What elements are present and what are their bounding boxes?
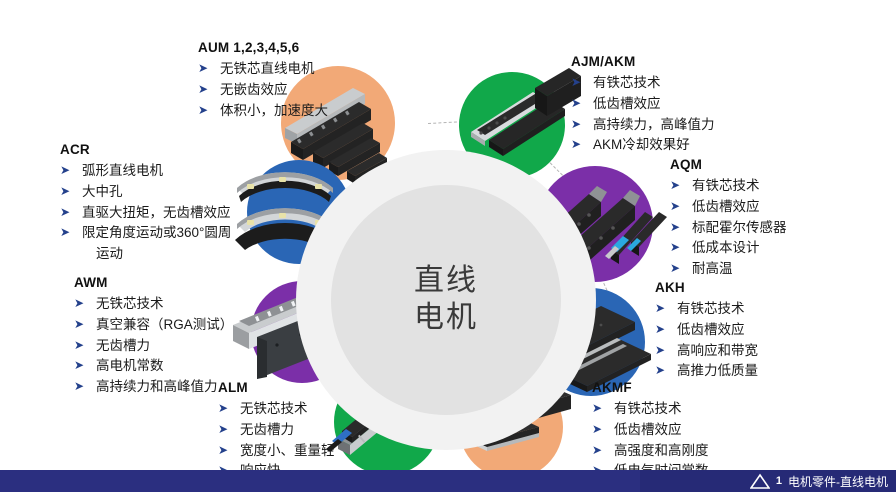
ajm-akm-bullet-list: ➤有铁芯技术 ➤低齿槽效应 ➤高持续力，高峰值力 ➤AKM冷却效果好 — [571, 73, 715, 156]
bullet-text: 低齿槽效应 — [593, 96, 661, 111]
bullet-text: 耐高温 — [692, 261, 733, 276]
acr-bullet-list: ➤弧形直线电机 ➤大中孔 ➤直驱大扭矩，无齿槽效应 ➤限定角度运动或360°圆周… — [60, 161, 231, 265]
chevron-right-bullet-icon: ➤ — [592, 441, 602, 460]
bullet-text: 有铁芯技术 — [614, 401, 682, 416]
chevron-right-bullet-icon: ➤ — [74, 356, 84, 375]
footer-title-text: 电机零件-直线电机 — [788, 473, 888, 490]
bullet-text: 真空兼容（RGA测试） — [96, 317, 233, 332]
bullet-text: 无齿槽力 — [96, 338, 150, 353]
bullet-text: 直驱大扭矩，无齿槽效应 — [82, 205, 231, 220]
list-item: ➤高电机常数 — [74, 356, 233, 377]
text-block-akh: AKH ➤有铁芯技术 ➤低齿槽效应 ➤高响应和带宽 ➤高推力低质量 — [655, 280, 758, 382]
text-block-ajm-akm: AJM/AKM ➤有铁芯技术 ➤低齿槽效应 ➤高持续力，高峰值力 ➤AKM冷却效… — [571, 54, 715, 156]
chevron-right-bullet-icon: ➤ — [592, 399, 602, 418]
list-item-continuation: ➤运动 — [60, 244, 231, 265]
awm-bullet-list: ➤无铁芯技术 ➤真空兼容（RGA测试） ➤无齿槽力 ➤高电机常数 ➤高持续力和高… — [74, 294, 233, 398]
list-item: ➤高持续力，高峰值力 — [571, 115, 715, 136]
list-item: ➤高推力低质量 — [655, 361, 758, 382]
list-item: ➤无铁芯技术 — [218, 399, 335, 420]
text-block-acr: ACR ➤弧形直线电机 ➤大中孔 ➤直驱大扭矩，无齿槽效应 ➤限定角度运动或36… — [60, 142, 231, 265]
chevron-right-bullet-icon: ➤ — [670, 176, 680, 195]
akh-bullet-list: ➤有铁芯技术 ➤低齿槽效应 ➤高响应和带宽 ➤高推力低质量 — [655, 299, 758, 382]
akh-title: AKH — [655, 280, 758, 295]
bullet-text: AKM冷却效果好 — [593, 137, 690, 152]
bullet-text: 有铁芯技术 — [677, 301, 745, 316]
list-item: ➤无铁芯技术 — [74, 294, 233, 315]
chevron-right-bullet-icon: ➤ — [571, 115, 581, 134]
center-hub-line1: 直线 — [414, 263, 478, 300]
chevron-right-bullet-icon: ➤ — [60, 203, 70, 222]
aum-bullet-list: ➤无铁芯直线电机 ➤无嵌齿效应 ➤体积小，加速度大 — [198, 59, 328, 121]
aqm-title: AQM — [670, 157, 787, 172]
bullet-text: 标配霍尔传感器 — [692, 220, 787, 235]
footer-page-number: 1 — [776, 475, 782, 487]
center-hub-label: 直线 电机 — [331, 185, 561, 415]
text-block-awm: AWM ➤无铁芯技术 ➤真空兼容（RGA测试） ➤无齿槽力 ➤高电机常数 ➤高持… — [74, 275, 233, 398]
list-item: ➤限定角度运动或360°圆周 — [60, 223, 231, 244]
ajm-akm-title: AJM/AKM — [571, 54, 715, 69]
bullet-text: 低齿槽效应 — [614, 422, 682, 437]
list-item: ➤真空兼容（RGA测试） — [74, 315, 233, 336]
list-item: ➤耐高温 — [670, 259, 787, 280]
chevron-right-bullet-icon: ➤ — [218, 399, 228, 418]
text-block-aum: AUM 1,2,3,4,5,6 ➤无铁芯直线电机 ➤无嵌齿效应 ➤体积小，加速度… — [198, 40, 328, 121]
chevron-right-bullet-icon: ➤ — [571, 73, 581, 92]
list-item: ➤宽度小、重量轻 — [218, 441, 335, 462]
chevron-right-bullet-icon: ➤ — [670, 259, 680, 278]
slide-canvas: 直线 电机 AUM 1,2,3,4,5,6 ➤无铁芯直线电机 ➤无嵌齿效应 ➤体… — [0, 0, 896, 492]
bullet-text: 弧形直线电机 — [82, 163, 163, 178]
bullet-text: 运动 — [96, 246, 123, 261]
list-item: ➤直驱大扭矩，无齿槽效应 — [60, 203, 231, 224]
footer-content: 1 电机零件-直线电机 — [750, 470, 888, 492]
list-item: ➤有铁芯技术 — [670, 176, 787, 197]
aqm-bullet-list: ➤有铁芯技术 ➤低齿槽效应 ➤标配霍尔传感器 ➤低成本设计 ➤耐高温 — [670, 176, 787, 280]
list-item: ➤低齿槽效应 — [670, 197, 787, 218]
chevron-right-bullet-icon: ➤ — [592, 420, 602, 439]
bullet-text: 无齿槽力 — [240, 422, 294, 437]
list-item: ➤低齿槽效应 — [655, 320, 758, 341]
list-item: ➤低齿槽效应 — [592, 420, 709, 441]
chevron-right-bullet-icon: ➤ — [670, 218, 680, 237]
akmf-title: AKMF — [592, 380, 709, 395]
bullet-text: 宽度小、重量轻 — [240, 443, 335, 458]
center-hub-line2: 电机 — [414, 300, 478, 337]
aum-title: AUM 1,2,3,4,5,6 — [198, 40, 328, 55]
bullet-text: 无铁芯技术 — [240, 401, 308, 416]
chevron-right-bullet-icon: ➤ — [74, 377, 84, 396]
bullet-text: 低齿槽效应 — [692, 199, 760, 214]
list-item: ➤有铁芯技术 — [655, 299, 758, 320]
bullet-text: 限定角度运动或360°圆周 — [82, 225, 231, 240]
text-block-alm: ALM ➤无铁芯技术 ➤无齿槽力 ➤宽度小、重量轻 ➤响应快 — [218, 380, 335, 482]
bullet-text: 体积小，加速度大 — [220, 103, 328, 118]
bullet-text: 有铁芯技术 — [593, 75, 661, 90]
chevron-right-bullet-icon: ➤ — [655, 320, 665, 339]
chevron-right-bullet-icon: ➤ — [198, 59, 208, 78]
bullet-text: 无铁芯技术 — [96, 296, 164, 311]
chevron-right-bullet-icon: ➤ — [198, 101, 208, 120]
bullet-text: 高持续力，高峰值力 — [593, 117, 715, 132]
chevron-right-bullet-icon: ➤ — [571, 94, 581, 113]
chevron-right-bullet-icon: ➤ — [670, 238, 680, 257]
chevron-right-bullet-icon: ➤ — [60, 223, 70, 242]
bullet-text: 无嵌齿效应 — [220, 82, 288, 97]
footer-bar: 1 电机零件-直线电机 — [0, 470, 896, 492]
bullet-text: 高持续力和高峰值力 — [96, 379, 218, 394]
chevron-right-bullet-icon: ➤ — [670, 197, 680, 216]
chevron-right-bullet-icon: ➤ — [60, 161, 70, 180]
list-item: ➤AKM冷却效果好 — [571, 135, 715, 156]
text-block-akmf: AKMF ➤有铁芯技术 ➤低齿槽效应 ➤高强度和高刚度 ➤低电气时间常数 — [592, 380, 709, 482]
bullet-text: 高电机常数 — [96, 358, 164, 373]
list-item: ➤无铁芯直线电机 — [198, 59, 328, 80]
bullet-text: 大中孔 — [82, 184, 123, 199]
triangle-logo-icon — [750, 473, 770, 489]
list-item: ➤无齿槽力 — [74, 336, 233, 357]
chevron-right-bullet-icon: ➤ — [218, 441, 228, 460]
list-item: ➤高强度和高刚度 — [592, 441, 709, 462]
chevron-right-bullet-icon: ➤ — [218, 420, 228, 439]
list-item: ➤无齿槽力 — [218, 420, 335, 441]
list-item: ➤体积小，加速度大 — [198, 101, 328, 122]
chevron-right-bullet-icon: ➤ — [655, 361, 665, 380]
bullet-text: 低成本设计 — [692, 240, 760, 255]
chevron-right-bullet-icon: ➤ — [655, 299, 665, 318]
list-item: ➤高持续力和高峰值力 — [74, 377, 233, 398]
chevron-right-bullet-icon: ➤ — [74, 336, 84, 355]
list-item: ➤高响应和带宽 — [655, 341, 758, 362]
bullet-text: 高响应和带宽 — [677, 343, 758, 358]
list-item: ➤无嵌齿效应 — [198, 80, 328, 101]
awm-title: AWM — [74, 275, 233, 290]
list-item: ➤低齿槽效应 — [571, 94, 715, 115]
list-item: ➤弧形直线电机 — [60, 161, 231, 182]
text-block-aqm: AQM ➤有铁芯技术 ➤低齿槽效应 ➤标配霍尔传感器 ➤低成本设计 ➤耐高温 — [670, 157, 787, 280]
bullet-text: 有铁芯技术 — [692, 178, 760, 193]
chevron-right-bullet-icon: ➤ — [60, 182, 70, 201]
bullet-text: 无铁芯直线电机 — [220, 61, 315, 76]
footer-left-wedge — [0, 470, 640, 492]
bullet-text: 低齿槽效应 — [677, 322, 745, 337]
list-item: ➤大中孔 — [60, 182, 231, 203]
list-item: ➤有铁芯技术 — [592, 399, 709, 420]
chevron-right-bullet-icon: ➤ — [74, 315, 84, 334]
list-item: ➤有铁芯技术 — [571, 73, 715, 94]
chevron-right-bullet-icon: ➤ — [74, 294, 84, 313]
chevron-right-bullet-icon: ➤ — [198, 80, 208, 99]
bullet-text: 高推力低质量 — [677, 363, 758, 378]
chevron-right-bullet-icon: ➤ — [655, 341, 665, 360]
alm-title: ALM — [218, 380, 335, 395]
list-item: ➤低成本设计 — [670, 238, 787, 259]
bullet-text: 高强度和高刚度 — [614, 443, 709, 458]
list-item: ➤标配霍尔传感器 — [670, 218, 787, 239]
chevron-right-bullet-icon: ➤ — [571, 135, 581, 154]
acr-title: ACR — [60, 142, 231, 157]
